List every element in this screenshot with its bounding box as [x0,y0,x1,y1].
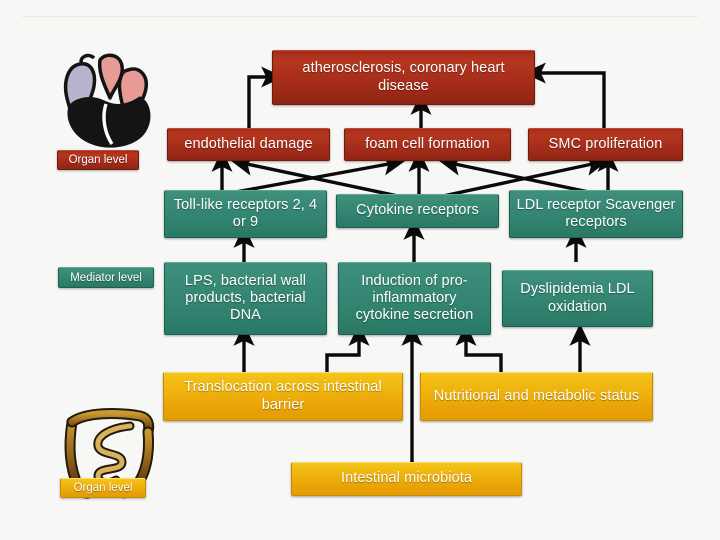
node-label: atherosclerosis, coronary heart disease [279,60,528,94]
node-atherosclerosis[interactable]: atherosclerosis, coronary heart disease [272,50,535,105]
node-cytokine-receptors[interactable]: Cytokine receptors [336,194,499,228]
node-label: Cytokine receptors [356,202,479,219]
node-label: Dyslipidemia LDL oxidation [509,281,646,315]
level-tag-organ-heart: Organ level [57,150,139,170]
node-smc-proliferation[interactable]: SMC proliferation [528,128,683,161]
level-tag-label: Mediator level [70,272,142,284]
edge-translocation-to-induction [327,335,359,372]
node-label: Induction of pro-inflammatory cytokine s… [345,273,484,324]
node-lps-bacterial-products[interactable]: LPS, bacterial wall products, bacterial … [164,262,327,335]
node-label: Nutritional and metabolic status [434,388,640,405]
node-label: LPS, bacterial wall products, bacterial … [171,273,320,324]
node-toll-like-receptors[interactable]: Toll-like receptors 2, 4 or 9 [164,190,327,238]
node-label: foam cell formation [365,136,489,153]
node-label: Translocation across intestinal barrier [170,379,396,413]
edge-smc-to-athero [535,73,604,128]
node-translocation-intestinal-barrier[interactable]: Translocation across intestinal barrier [163,372,403,421]
node-ldl-scavenger-receptors[interactable]: LDL receptor Scavenger receptors [509,190,683,238]
node-induction-cytokine-secretion[interactable]: Induction of pro-inflammatory cytokine s… [338,262,491,335]
level-tag-label: Organ level [74,482,133,494]
node-foam-cell-formation[interactable]: foam cell formation [344,128,511,161]
node-endothelial-damage[interactable]: endothelial damage [167,128,330,161]
level-tag-organ-gut: Organ level [60,478,146,498]
diagram-canvas: Organ level Mediator level Organ level a… [0,0,720,540]
level-tag-label: Organ level [69,154,128,166]
level-tag-mediator: Mediator level [58,267,154,288]
node-label: Toll-like receptors 2, 4 or 9 [171,197,320,231]
node-label: LDL receptor Scavenger receptors [516,197,676,231]
node-dyslipidemia-ldl-oxidation[interactable]: Dyslipidemia LDL oxidation [502,270,653,327]
node-intestinal-microbiota[interactable]: Intestinal microbiota [291,462,522,496]
node-label: endothelial damage [184,136,312,153]
node-nutritional-metabolic-status[interactable]: Nutritional and metabolic status [420,372,653,421]
edge-nutritional-to-induction [466,335,501,372]
node-label: SMC proliferation [549,136,663,153]
node-label: Intestinal microbiota [341,470,472,487]
heart-icon [48,40,166,152]
edge-endothelial-to-athero [249,77,272,128]
